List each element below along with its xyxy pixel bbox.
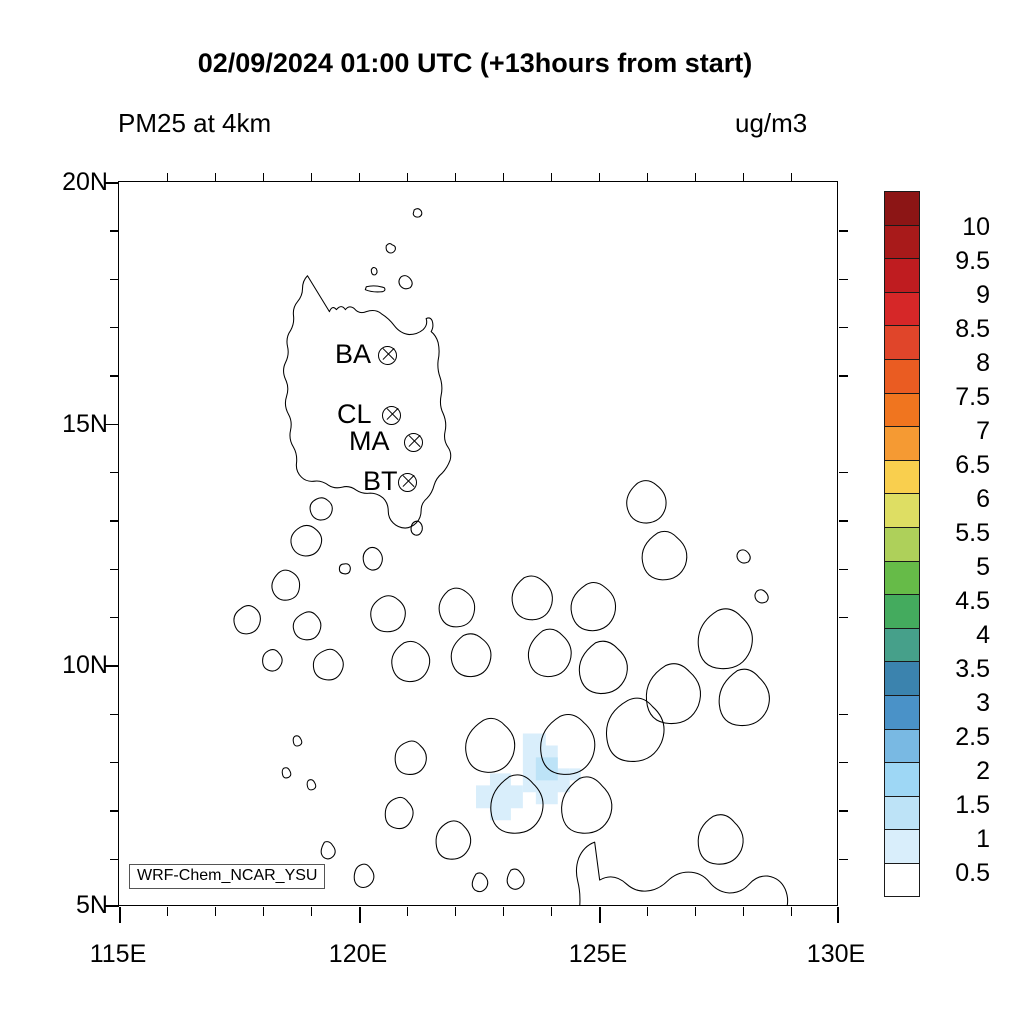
colorbar-band [884,393,920,428]
colorbar-label: 7 [926,417,990,446]
y-minor-tick [110,472,119,473]
x-minor-tick [455,907,456,916]
colorbar-label: 4.5 [926,587,990,616]
x-top-minor-tick [263,173,264,182]
colorbar-band [884,561,920,596]
colorbar-label: 9 [926,281,990,310]
x-top-minor-tick [599,173,600,182]
colorbar-label: 7.5 [926,383,990,412]
x-minor-tick [791,907,792,916]
x-minor-tick [503,907,504,916]
colorbar [884,191,920,896]
colorbar-band [884,661,920,696]
colorbar-band [884,460,920,495]
colorbar-band [884,594,920,629]
y-minor-tick [110,279,119,280]
colorbar-band [884,359,920,394]
x-minor-tick [311,907,312,916]
x-top-minor-tick [455,173,456,182]
y-right-minor-tick [839,569,848,570]
x-minor-tick [551,907,552,916]
map-plot-area: WRF-Chem_NCAR_YSU BA CL MA BT [118,181,838,906]
y-minor-tick [110,617,119,618]
x-top-minor-tick [743,173,744,182]
colorbar-label: 6 [926,485,990,514]
figure-root: 02/09/2024 01:00 UTC (+13hours from star… [0,0,1024,1024]
y-right-minor-tick [839,375,848,376]
x-minor-tick [215,907,216,916]
colorbar-band-under [884,863,920,898]
colorbar-label: 2 [926,757,990,786]
x-major-tick-125E [599,907,601,923]
x-top-minor-tick [407,173,408,182]
x-major-tick-120E [359,907,361,923]
station-label-BT: BT [363,466,398,497]
x-minor-tick [263,907,264,916]
y-minor-tick [110,714,119,715]
colorbar-label: 3 [926,689,990,718]
x-top-minor-tick [647,173,648,182]
colorbar-band [884,628,920,663]
y-right-minor-tick [839,617,848,618]
y-right-minor-tick [839,327,848,328]
y-minor-tick [110,327,119,328]
y-minor-tick [110,859,119,860]
x-minor-tick [743,907,744,916]
station-label-BA: BA [335,339,371,370]
map-canvas [119,182,837,905]
colorbar-label: 1 [926,825,990,854]
station-marker-MA [404,433,423,452]
colorbar-band [884,426,920,461]
colorbar-label: 8.5 [926,315,990,344]
x-top-minor-tick [791,173,792,182]
colorbar-band [884,762,920,797]
x-tick-label-120E: 120E [288,940,428,969]
colorbar-label: 8 [926,349,990,378]
variable-label: PM25 at 4km [118,108,271,139]
page-title: 02/09/2024 01:00 UTC (+13hours from star… [0,48,950,79]
y-right-minor-tick [839,859,848,860]
colorbar-band [884,695,920,730]
x-top-minor-tick [359,173,360,182]
x-minor-tick [647,907,648,916]
colorbar-label: 5 [926,553,990,582]
colorbar-band [884,796,920,831]
y-right-minor-tick [839,520,848,521]
colorbar-label: 0.5 [926,859,990,888]
model-watermark: WRF-Chem_NCAR_YSU [129,864,325,889]
colorbar-label: 10 [926,213,990,242]
x-minor-tick [407,907,408,916]
y-right-minor-tick [839,810,848,811]
units-label: ug/m3 [735,108,807,139]
y-tick-label-20N: 20N [8,168,108,197]
x-tick-label-125E: 125E [528,940,668,969]
y-minor-tick [110,375,119,376]
x-top-minor-tick [695,173,696,182]
y-tick-label-10N: 10N [8,651,108,680]
x-top-minor-tick [311,173,312,182]
y-tick-label-15N: 15N [8,410,108,439]
colorbar-label: 4 [926,621,990,650]
colorbar-label: 5.5 [926,519,990,548]
x-top-minor-tick [503,173,504,182]
station-marker-BT [398,473,417,492]
y-tick-label-5N: 5N [8,891,108,920]
station-label-MA: MA [349,426,390,457]
colorbar-label: 2.5 [926,723,990,752]
x-tick-label-115E: 115E [48,940,188,969]
colorbar-band [884,292,920,327]
y-minor-tick [110,810,119,811]
colorbar-band [884,493,920,528]
colorbar-band [884,258,920,293]
concentration-shading [476,733,581,820]
station-marker-BA [378,346,397,365]
colorbar-label: 1.5 [926,791,990,820]
colorbar-band [884,729,920,764]
y-minor-tick [110,230,119,231]
x-major-tick-130E [837,907,839,923]
y-minor-tick [110,762,119,763]
colorbar-band [884,225,920,260]
x-top-minor-tick [215,173,216,182]
station-marker-CL [382,406,401,425]
y-minor-tick [110,520,119,521]
y-right-minor-tick [839,714,848,715]
colorbar-band [884,527,920,562]
colorbar-label: 9.5 [926,247,990,276]
x-minor-tick [695,907,696,916]
y-right-minor-tick [839,230,848,231]
colorbar-band [884,829,920,864]
colorbar-label: 6.5 [926,451,990,480]
y-right-minor-tick [839,279,848,280]
x-minor-tick [167,907,168,916]
colorbar-band [884,325,920,360]
colorbar-label: 3.5 [926,655,990,684]
y-minor-tick [110,569,119,570]
x-top-minor-tick [167,173,168,182]
x-major-tick-115E [119,907,121,923]
colorbar-band [884,191,920,226]
x-top-minor-tick [551,173,552,182]
y-right-minor-tick [839,762,848,763]
y-right-minor-tick [839,472,848,473]
x-tick-label-130E: 130E [766,940,906,969]
